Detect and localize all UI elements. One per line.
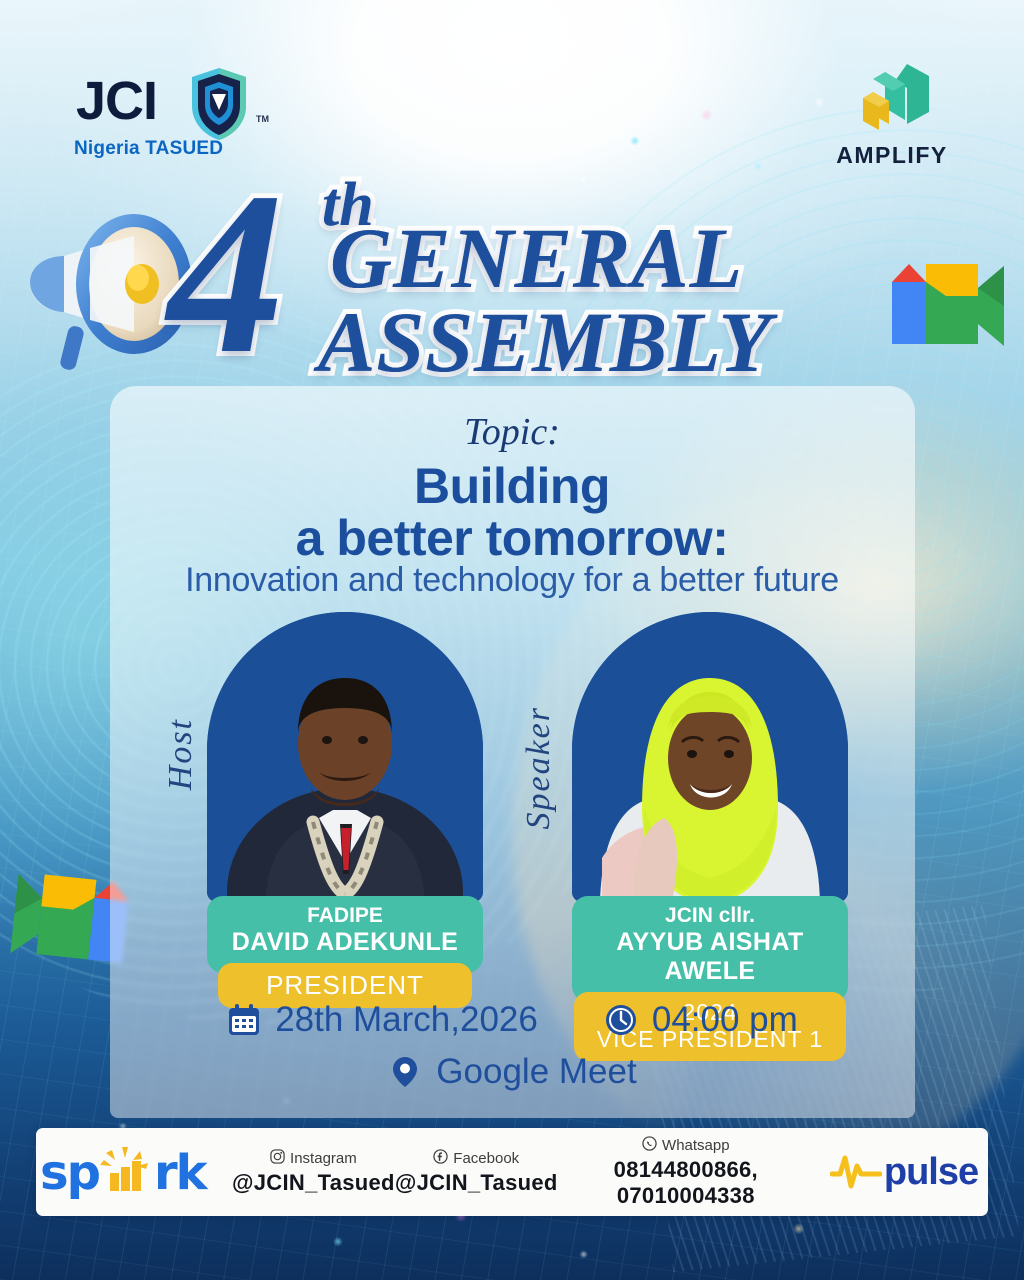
social-instagram-label-row: Instagram [232,1149,395,1168]
amplify-cube-icon [849,62,935,136]
social-whatsapp-platform: Whatsapp [662,1137,730,1154]
event-details: 28th March,2026 04:00 pm [110,1000,915,1092]
event-date: 28th March,2026 [227,1000,538,1040]
event-time-text: 04:00 pm [652,1000,798,1040]
social-facebook-handle: @JCIN_Tasued [395,1170,558,1196]
event-date-text: 28th March,2026 [275,1000,538,1040]
hero-title: 4 4 th th GENERAL GENERAL ASSEMBLY ASSEM… [0,156,1024,386]
topic-subtitle: Innovation and technology for a better f… [0,561,1024,600]
social-links: Instagram @JCIN_Tasued Facebook @JCIN_Ta… [226,1136,820,1209]
calendar-icon [227,1003,261,1037]
speaker-script-label: Speaker [520,706,558,830]
jci-shield-icon [188,66,250,142]
topic-line2: a better tomorrow: [0,509,1024,567]
host-name-line2: DAVID ADEKUNLE [217,928,473,957]
pulse-logo: pulse [820,1148,988,1197]
svg-text:sp: sp [40,1145,100,1201]
location-pin-icon [388,1055,422,1089]
spark-logo: sp rk [36,1139,226,1206]
facebook-icon [433,1149,448,1168]
pulse-wordmark: pulse [884,1151,978,1194]
host-title-line2: PRESIDENT [228,970,462,1001]
social-facebook[interactable]: Facebook @JCIN_Tasued [395,1149,558,1196]
pulse-wave-icon [830,1148,882,1197]
topic-label: Topic: [0,410,1024,454]
social-instagram[interactable]: Instagram @JCIN_Tasued [232,1149,395,1196]
topic-line1: Building [0,457,1024,515]
jci-wordmark: JCI [76,74,157,128]
event-flyer: JCI TM Nigeria TASUED [0,0,1024,1280]
hero-line2: ASSEMBLY [318,292,772,392]
footer-bar: sp rk Instagram @JCIN_Tasued [36,1128,988,1216]
jci-trademark: TM [256,114,269,124]
host-portrait [207,612,483,902]
social-whatsapp-handle: 08144800866, 07010004338 [558,1157,814,1209]
social-facebook-label-row: Facebook [395,1149,558,1168]
social-facebook-platform: Facebook [453,1150,519,1167]
social-whatsapp-label-row: Whatsapp [558,1136,814,1155]
host-name-band: FADIPE DAVID ADEKUNLE [207,896,483,973]
speaker-name-line2: AYYUB AISHAT AWELE [582,928,838,986]
hero-ordinal-number: 4 [168,158,284,390]
host-card: FADIPE DAVID ADEKUNLE PRESIDENT [207,612,483,1008]
event-venue: Google Meet [388,1052,636,1092]
speaker-portrait [572,612,848,902]
speaker-card: JCIN cllr. AYYUB AISHAT AWELE 2024 VICE … [572,612,848,1061]
event-details-row-primary: 28th March,2026 04:00 pm [110,1000,915,1040]
whatsapp-icon [642,1136,657,1155]
event-time: 04:00 pm [604,1000,798,1040]
host-name-line1: FADIPE [217,904,473,928]
clock-icon [604,1003,638,1037]
svg-text:rk: rk [154,1145,209,1201]
event-venue-text: Google Meet [436,1052,636,1092]
event-details-row-venue: Google Meet [110,1052,915,1092]
speaker-name-prefix: JCIN cllr. [582,904,838,928]
speaker-name-band: JCIN cllr. AYYUB AISHAT AWELE [572,896,848,1002]
host-script-label: Host [162,718,200,790]
instagram-icon [270,1149,285,1168]
social-instagram-platform: Instagram [290,1150,357,1167]
google-meet-icon [874,248,1010,366]
social-whatsapp[interactable]: Whatsapp 08144800866, 07010004338 [558,1136,814,1209]
social-instagram-handle: @JCIN_Tasued [232,1170,395,1196]
